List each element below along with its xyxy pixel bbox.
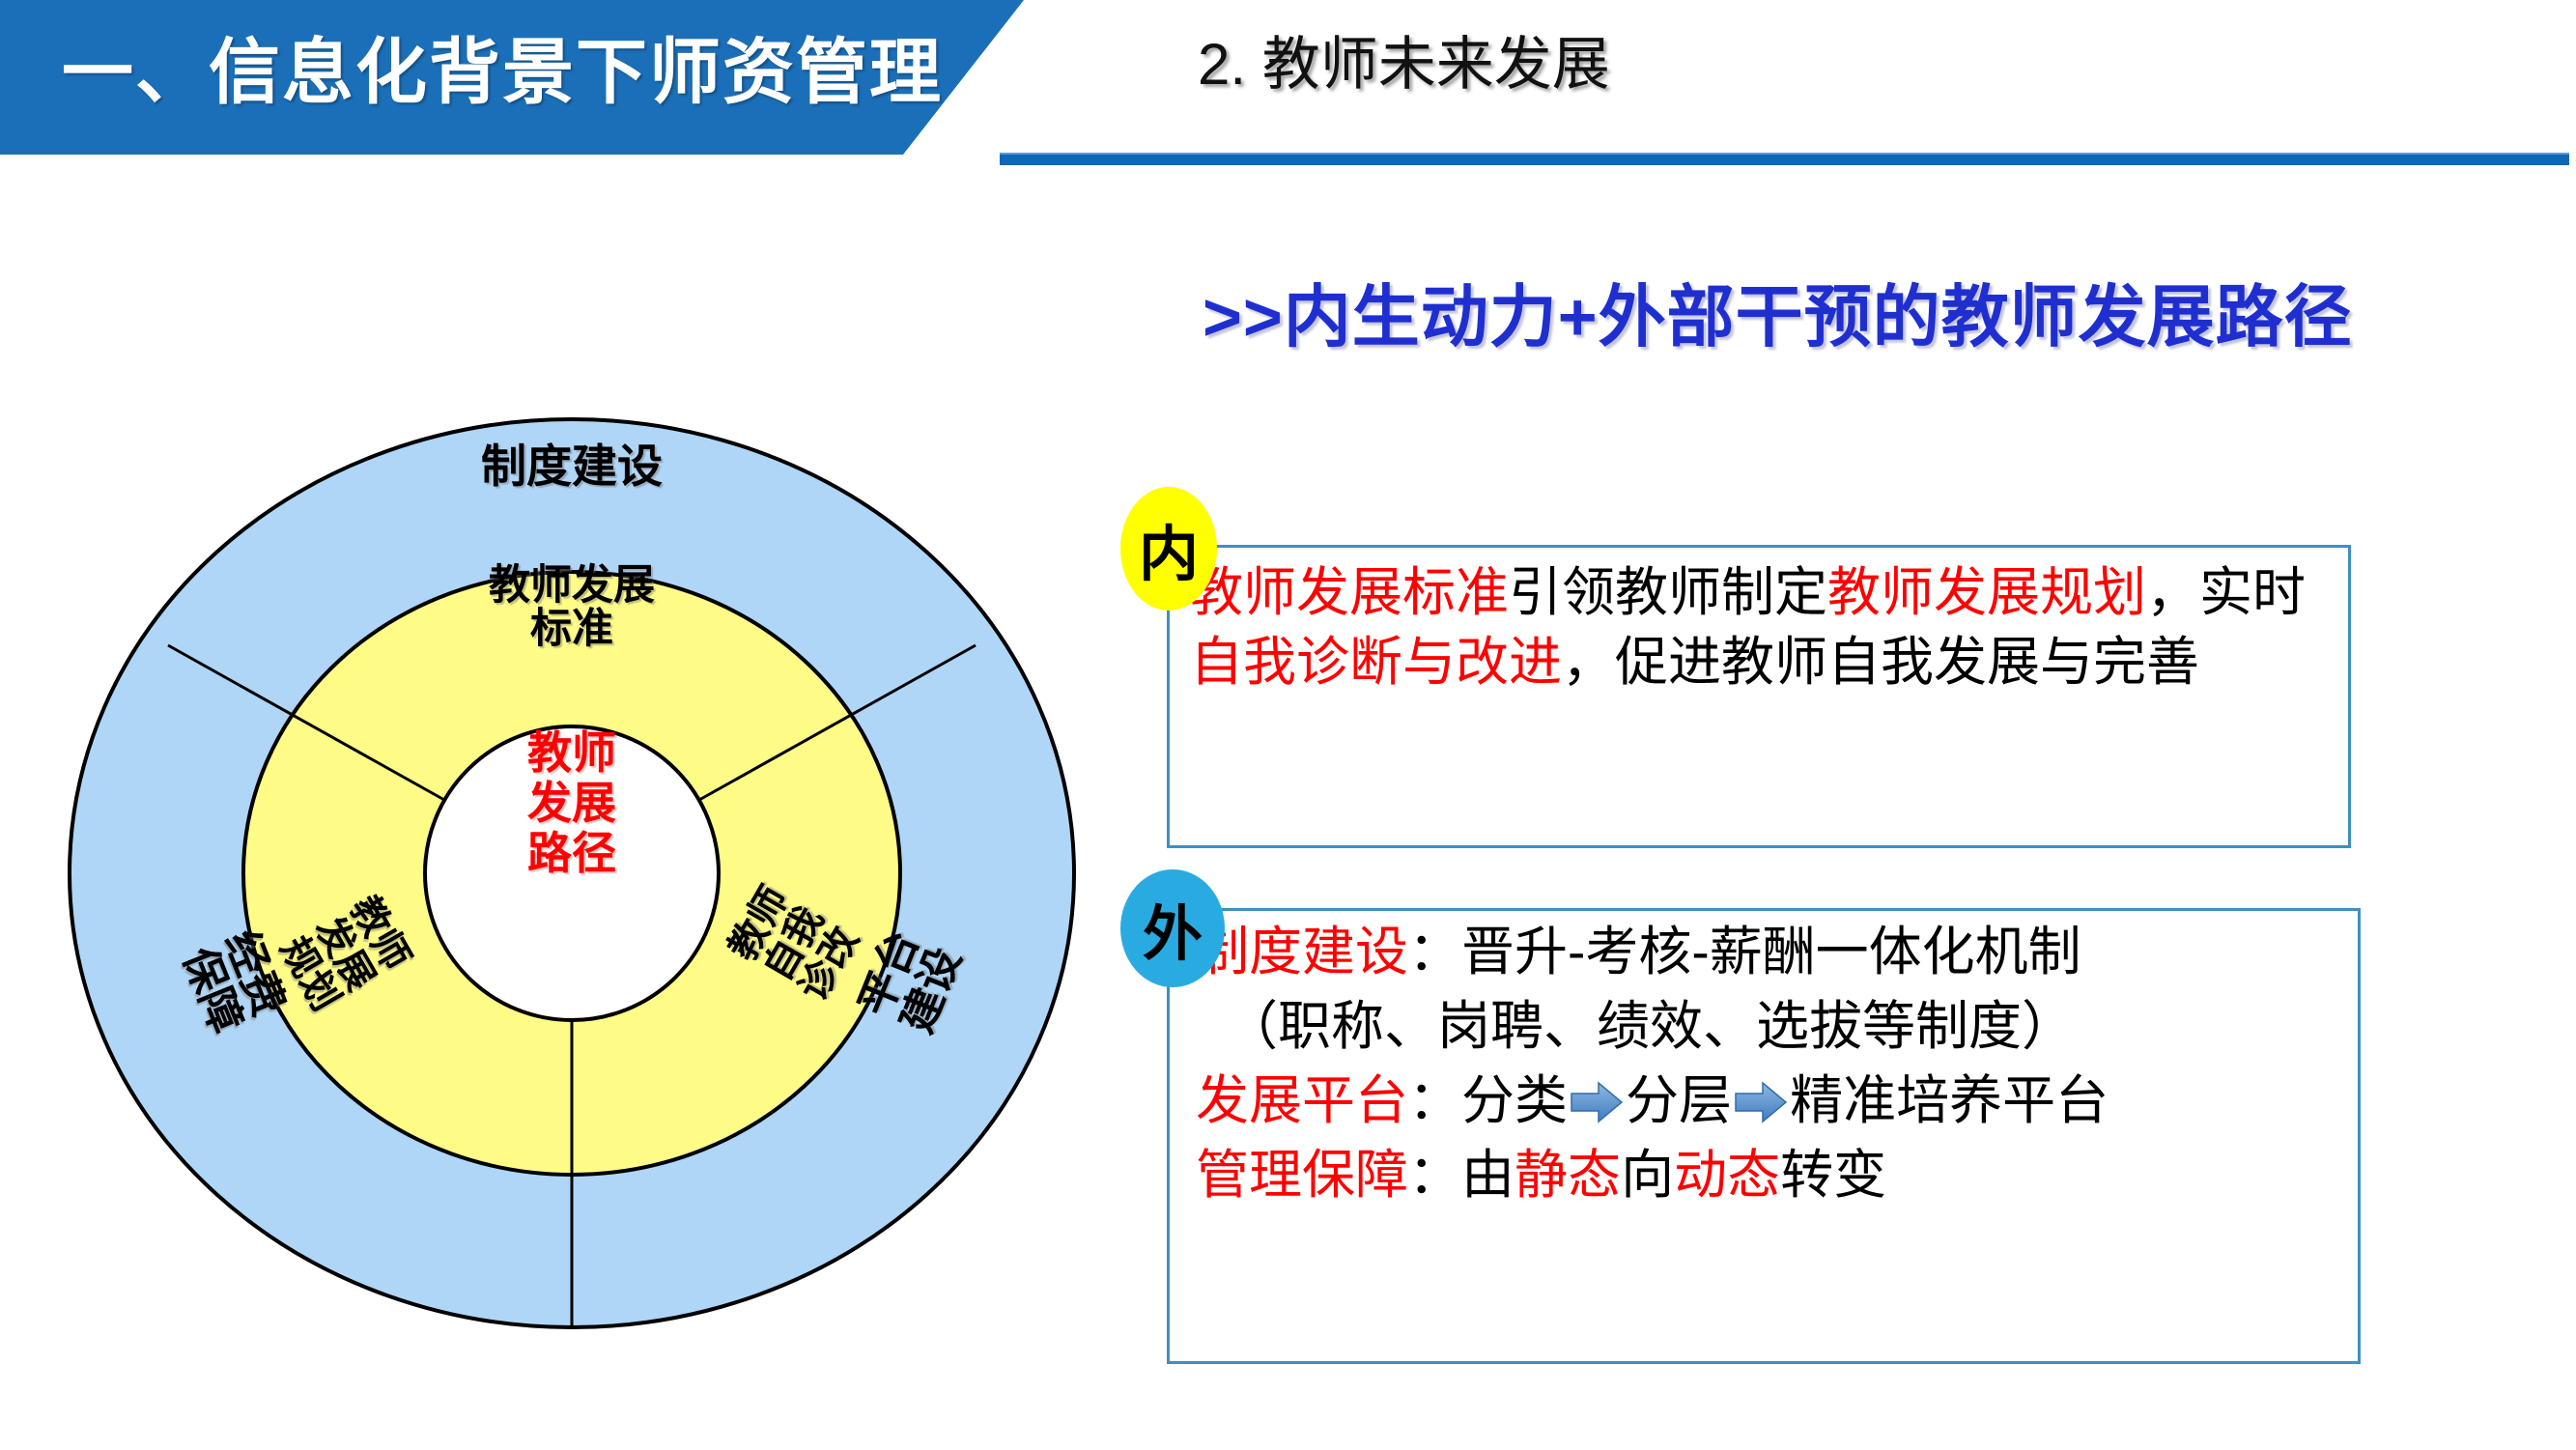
page-headline: >>内生动力+外部干预的教师发展路径: [1203, 263, 2353, 360]
header-banner-title: 一、信息化背景下师资管理: [19, 8, 985, 124]
internal-seg-2: 教师发展规划: [1827, 562, 2146, 622]
right-arrow-icon-2: [1734, 1080, 1788, 1124]
ring-label-system-construction: 制度建设: [282, 442, 862, 490]
external-line-system-sep: ：: [1408, 922, 1461, 981]
external-mgmt-seg-3: 动态: [1674, 1145, 1780, 1205]
external-line-system-body: 晋升-考核-薪酬一体化机制: [1461, 922, 2081, 981]
external-badge: 外: [1120, 869, 1225, 987]
external-line-platform: 发展平台：分类分层精准培养平台: [1196, 1074, 2355, 1127]
external-intervention-lines: 制度建设：晋升-考核-薪酬一体化机制 （职称、岗聘、绩效、选拔等制度） 发展平台…: [1196, 925, 2355, 1223]
external-line-platform-sep: ：: [1408, 1070, 1461, 1130]
internal-drive-text: 教师发展标准引领教师制定教师发展规划，实时自我诊断与改进，促进教师自我发展与完善: [1190, 558, 2339, 697]
external-mgmt-seg-4: 转变: [1780, 1145, 1886, 1205]
header-rule: [1000, 155, 2569, 165]
header-section-title: 2. 教师未来发展: [1198, 17, 1610, 101]
internal-seg-0: 教师发展标准: [1190, 562, 1509, 622]
diagram-center-label: 教师 发展 路径: [446, 728, 697, 879]
external-line-management: 管理保障：由静态向动态转变: [1196, 1149, 2355, 1202]
external-line-system: 制度建设：晋升-考核-薪酬一体化机制: [1196, 925, 2355, 979]
external-line-platform-label: 发展平台: [1196, 1070, 1408, 1130]
internal-seg-4: 自我诊断与改进: [1190, 632, 1562, 692]
right-arrow-icon: [1570, 1080, 1624, 1124]
external-mgmt-seg-1: 静态: [1514, 1145, 1621, 1205]
external-mgmt-seg-0: 由: [1461, 1145, 1514, 1205]
internal-badge: 内: [1120, 487, 1217, 611]
internal-seg-5: ，促进教师自我发展与完善: [1562, 632, 2199, 692]
external-line-management-label: 管理保障: [1196, 1145, 1408, 1205]
external-line-platform-part-1: 分层: [1626, 1070, 1732, 1130]
external-mgmt-seg-2: 向: [1621, 1145, 1674, 1205]
slide-header: 一、信息化背景下师资管理 2. 教师未来发展: [0, 0, 2576, 174]
external-line-subsystems: （职称、岗聘、绩效、选拔等制度）: [1196, 1000, 2355, 1053]
external-line-management-sep: ：: [1408, 1145, 1461, 1205]
internal-seg-3: ，实时: [2146, 562, 2306, 622]
ring-label-development-standard: 教师发展 标准: [350, 564, 794, 651]
external-line-platform-part-0: 分类: [1461, 1070, 1568, 1130]
external-line-subsystems-body: （职称、岗聘、绩效、选拔等制度）: [1225, 996, 2075, 1056]
external-line-platform-part-2: 精准培养平台: [1790, 1070, 2109, 1130]
external-line-system-label: 制度建设: [1196, 922, 1408, 981]
internal-seg-1: 引领教师制定: [1509, 562, 1827, 622]
teacher-development-path-diagram: 制度建设 平台 建设 经费 保障 教师发展 标准 教师 自我 诊改 教师 发展 …: [60, 410, 1084, 1337]
